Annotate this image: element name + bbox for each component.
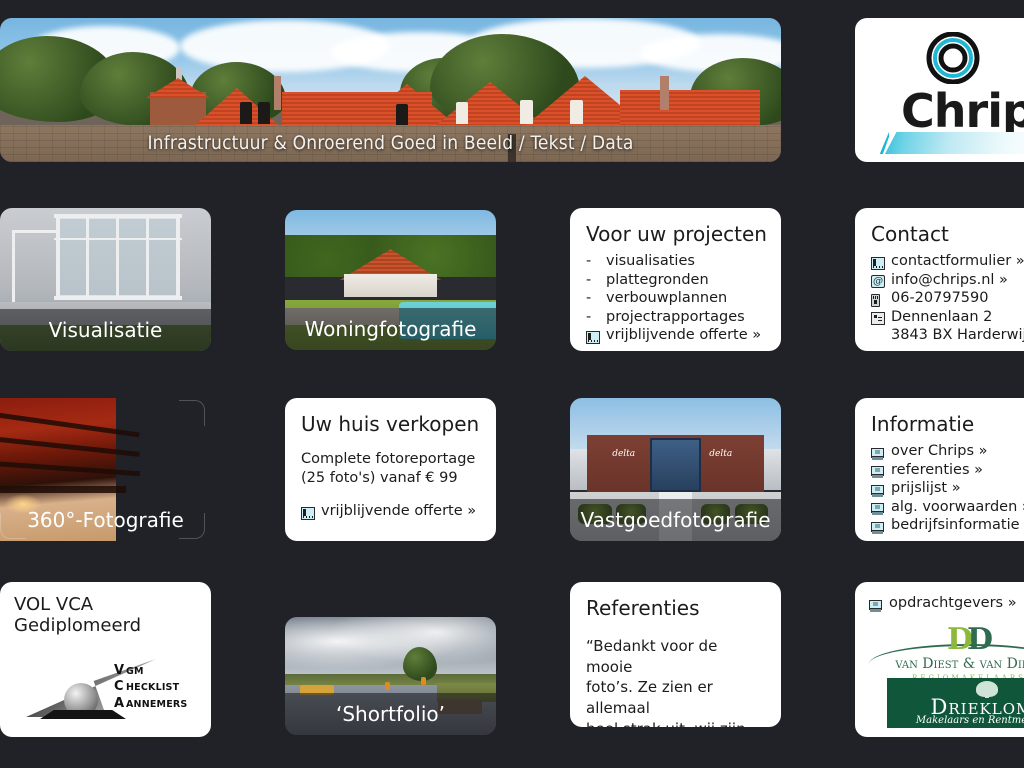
informatie-link-prijslijst[interactable]: prijslijst »: [871, 479, 1024, 498]
concentric-rings-icon: [925, 32, 981, 84]
contact-address-line2: 3843 BX Harderwijk: [891, 326, 1024, 345]
vca-logo-initial: A: [114, 696, 126, 712]
logo-swoosh: [875, 132, 1024, 154]
contact-phone-row: 06-20797590: [871, 289, 1024, 308]
vca-logo: V GM C HECKLIST A ANNEMERS: [22, 641, 207, 719]
homepage: Infrastructuur & Onroerend Goed in Beeld…: [0, 0, 1024, 768]
form-icon: [301, 504, 321, 523]
vca-logo-initial: C: [114, 679, 126, 695]
vca-line1: VOL VCA: [14, 594, 197, 615]
phone-icon: [871, 291, 891, 310]
vastgoedfotografie-label: Vastgoedfotografie: [570, 499, 781, 541]
document-icon: [871, 518, 891, 537]
contact-phone-label: 06-20797590: [891, 289, 989, 308]
client-logo-drieklomp: Drieklomp Makelaars en Rentmeesters: [887, 678, 1024, 728]
sign-text-right: delta: [709, 449, 732, 459]
card-visualisatie[interactable]: Visualisatie: [0, 208, 211, 351]
vca-logo-line: A ANNEMERS: [114, 696, 187, 712]
informatie-link-bedrijfsinformatie[interactable]: bedrijfsinformatie »: [871, 516, 1024, 535]
card-shortfolio[interactable]: ‘Shortfolio’: [285, 617, 496, 735]
card-woningfotografie[interactable]: Woningfotografie: [285, 210, 496, 350]
quote-line: foto’s. Ze zien er allemaal: [586, 677, 765, 718]
card-referenties[interactable]: Referenties “Bedankt voor de mooie foto’…: [570, 582, 781, 727]
projecten-bullet-label: projectrapportages: [606, 308, 745, 327]
visualisatie-label: Visualisatie: [0, 309, 211, 351]
informatie-link-referenties[interactable]: referenties »: [871, 461, 1024, 480]
shortfolio-label: ‘Shortfolio’: [285, 693, 496, 735]
dormer: [240, 102, 252, 124]
contact-form-label: contactformulier »: [891, 252, 1024, 271]
informatie-link-label: bedrijfsinformatie »: [891, 516, 1024, 535]
header-tagline: Infrastructuur & Onroerend Goed in Beeld…: [0, 132, 781, 154]
card-vastgoedfotografie[interactable]: delta delta Vastgoedfotografie: [570, 398, 781, 541]
verkopen-title: Uw huis verkopen: [301, 412, 480, 436]
document-icon: [871, 481, 891, 500]
projecten-bullet-label: verbouwplannen: [606, 289, 727, 308]
client-subtitle: Makelaars en Rentmeesters: [887, 715, 1024, 726]
chimney: [274, 76, 281, 110]
opdrachtgevers-link-label: opdrachtgevers »: [889, 594, 1017, 613]
contact-address-row: Dennenlaan 2: [871, 308, 1024, 327]
projecten-offerte-link[interactable]: vrijblijvende offerte »: [586, 326, 765, 345]
client-logo-van-diest: DD van Diest & van Diest REGIOMAKELAARS: [869, 622, 1024, 676]
dormer: [258, 102, 270, 124]
address-card-icon: [871, 310, 891, 329]
card-360-fotografie[interactable]: 360°-Fotografie: [0, 398, 211, 541]
card-uw-huis-verkopen[interactable]: Uw huis verkopen Complete fotoreportage …: [285, 398, 496, 541]
contact-address-line1: Dennenlaan 2: [891, 308, 992, 327]
vca-logo-line: V GM: [114, 663, 187, 679]
verkopen-line1: Complete fotoreportage: [301, 450, 480, 469]
contact-title: Contact: [871, 222, 1024, 246]
fotografie360-label: 360°-Fotografie: [0, 499, 211, 541]
bullet-dash: -: [586, 289, 606, 308]
client-monogram: DD: [947, 622, 987, 657]
logo-swoosh-tick: [873, 132, 889, 154]
vca-logo-line: C HECKLIST: [114, 679, 187, 695]
card-informatie[interactable]: Informatie over Chrips » referenties » p…: [855, 398, 1024, 541]
email-icon: [871, 273, 891, 292]
informatie-link-label: referenties »: [891, 461, 983, 480]
woningfotografie-label: Woningfotografie: [285, 308, 496, 350]
informatie-link-over-chrips[interactable]: over Chrips »: [871, 442, 1024, 461]
projecten-bullet-label: visualisaties: [606, 252, 695, 271]
document-icon: [871, 444, 891, 463]
logo-card[interactable]: Chrips: [855, 18, 1024, 162]
dormer: [396, 104, 408, 126]
verkopen-offerte-link[interactable]: vrijblijvende offerte »: [301, 502, 480, 521]
projecten-bullet: - plattegronden: [586, 271, 765, 290]
card-vol-vca[interactable]: VOL VCA Gediplomeerd V GM C HECKLIST A A…: [0, 582, 211, 737]
document-icon: [869, 596, 889, 615]
referenties-title: Referenties: [586, 596, 765, 620]
vca-logo-word: HECKLIST: [126, 682, 179, 694]
bullet-dash: -: [586, 271, 606, 290]
sign-text-left: delta: [612, 449, 635, 459]
form-icon: [871, 254, 891, 273]
verkopen-offerte-label: vrijblijvende offerte »: [321, 502, 476, 521]
card-voor-uw-projecten[interactable]: Voor uw projecten - visualisaties - plat…: [570, 208, 781, 351]
dormer: [456, 102, 468, 124]
contact-form-link[interactable]: contactformulier »: [871, 252, 1024, 271]
document-icon: [871, 500, 891, 519]
informatie-link-label: prijslijst »: [891, 479, 961, 498]
informatie-link-label: alg. voorwaarden »: [891, 498, 1024, 517]
informatie-link-label: over Chrips »: [891, 442, 988, 461]
dormer: [520, 100, 533, 124]
header-banner-image[interactable]: Infrastructuur & Onroerend Goed in Beeld…: [0, 18, 781, 162]
vca-logo-word: GM: [126, 666, 144, 678]
dormer: [570, 100, 583, 124]
vca-logo-word: ANNEMERS: [126, 699, 187, 711]
projecten-bullet: - visualisaties: [586, 252, 765, 271]
vca-logo-initial: V: [114, 663, 126, 679]
vca-line2: Gediplomeerd: [14, 615, 197, 636]
logo-wordmark: Chrips: [901, 84, 1024, 138]
projecten-title: Voor uw projecten: [586, 222, 765, 246]
chimney: [660, 76, 669, 110]
informatie-title: Informatie: [871, 412, 1024, 436]
client-name: van Diest & van Diest: [869, 656, 1024, 672]
informatie-link-voorwaarden[interactable]: alg. voorwaarden »: [871, 498, 1024, 517]
contact-address-line2-row: 3843 BX Harderwijk: [871, 326, 1024, 345]
opdrachtgevers-link[interactable]: opdrachtgevers »: [869, 594, 1024, 613]
contact-email-label: info@chrips.nl »: [891, 271, 1008, 290]
quote-line: “Bedankt voor de mooie: [586, 636, 765, 677]
bullet-dash: -: [586, 252, 606, 271]
projecten-bullet: - verbouwplannen: [586, 289, 765, 308]
verkopen-line2: (25 foto's) vanaf € 99: [301, 469, 480, 488]
card-contact[interactable]: Contact contactformulier » info@chrips.n…: [855, 208, 1024, 351]
document-icon: [871, 463, 891, 482]
projecten-bullet: - projectrapportages: [586, 308, 765, 327]
form-icon: [586, 328, 606, 347]
quote-line: heel strak uit, wij zijn er: [586, 719, 765, 727]
projecten-bullet-label: plattegronden: [606, 271, 709, 290]
bullet-dash: -: [586, 308, 606, 327]
referenties-quote: “Bedankt voor de mooie foto’s. Ze zien e…: [586, 636, 765, 727]
contact-email-link[interactable]: info@chrips.nl »: [871, 271, 1024, 290]
card-corner-outline: [179, 400, 205, 426]
card-opdrachtgevers[interactable]: opdrachtgevers » DD van Diest & van Dies…: [855, 582, 1024, 737]
projecten-offerte-label: vrijblijvende offerte »: [606, 326, 761, 345]
